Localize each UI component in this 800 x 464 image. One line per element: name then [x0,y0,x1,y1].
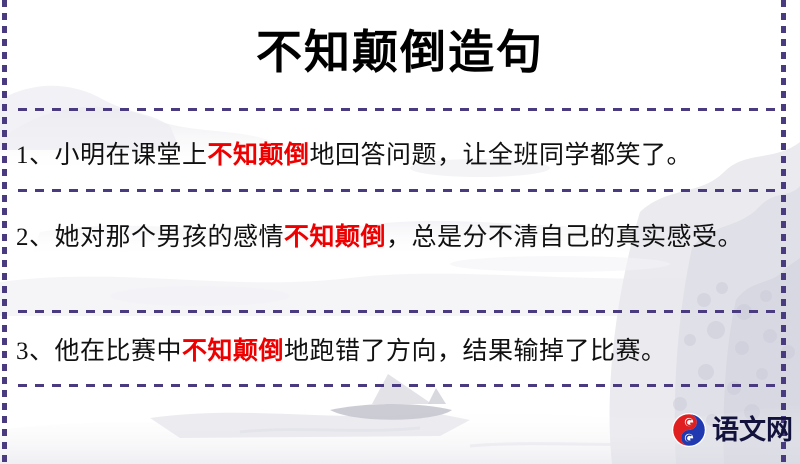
divider-rule-1 [18,108,782,111]
divider-rule-2 [18,189,782,192]
example-sentence-2: 2、她对那个男孩的感情不知颠倒，总是分不清自己的真实感受。 [16,216,784,260]
sentence-number-2: 2、 [16,224,55,251]
keyword-highlight-1: 不知颠倒 [208,142,310,169]
site-logo[interactable]: 语文网 [671,409,789,451]
sentence-text-before-1: 小明在课堂上 [55,142,208,169]
sentence-text-before-3: 他在比赛中 [55,338,183,365]
keyword-highlight-2: 不知颠倒 [284,224,386,251]
sentence-number-3: 3、 [16,338,55,365]
divider-rule-4 [18,384,782,387]
right-dashed-border [781,0,786,464]
sentence-text-after-1: 地回答问题，让全班同学都笑了。 [310,142,693,169]
example-sentence-3: 3、他在比赛中不知颠倒地跑错了方向，结果输掉了比赛。 [16,330,784,374]
example-sentence-1: 1、小明在课堂上不知颠倒地回答问题，让全班同学都笑了。 [16,134,784,178]
logo-text: 语文网 [712,415,793,445]
sentence-text-before-2: 她对那个男孩的感情 [55,224,285,251]
yinyang-emblem-icon [671,412,707,448]
sentence-text-after-3: 地跑错了方向，结果输掉了比赛。 [284,338,667,365]
sentence-number-1: 1、 [16,142,55,169]
left-dashed-border [2,0,7,464]
sentence-text-after-2: ，总是分不清自己的真实感受。 [386,224,743,251]
worksheet-page: 不知颠倒造句 1、小明在课堂上不知颠倒地回答问题，让全班同学都笑了。 2、她对那… [0,0,800,464]
page-title: 不知颠倒造句 [0,24,800,82]
divider-rule-3 [18,310,782,313]
keyword-highlight-3: 不知颠倒 [182,338,284,365]
